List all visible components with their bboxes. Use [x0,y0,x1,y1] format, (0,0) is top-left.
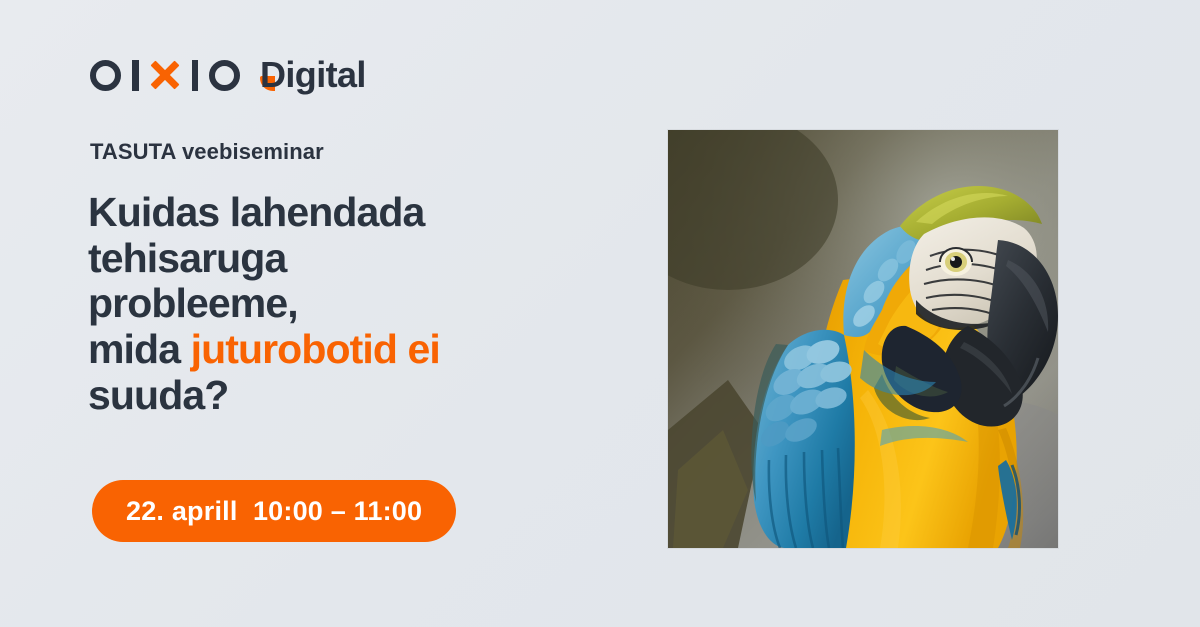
page-title: Kuidas lahendada tehisaruga probleeme, m… [88,190,648,419]
headline-line-1: Kuidas lahendada [88,189,424,235]
oixio-digital-logo: Digital [90,52,366,98]
logo-letter-o-right [209,60,240,91]
logo-letter-x-icon [150,60,181,91]
webinar-promo-banner: Digital TASUTA veebiseminar Kuidas lahen… [0,0,1200,627]
logo-wordmark: Digital [258,57,366,93]
oixio-logomark [90,54,240,96]
logo-wordmark-text: Digital [260,54,366,95]
eyebrow-label: TASUTA veebiseminar [90,139,324,165]
logo-letter-o-left [90,60,121,91]
headline-line-4-plain: mida [88,326,191,372]
parrot-illustration [668,130,1058,548]
headline-line-3: probleeme, [88,280,298,326]
headline-line-5: suuda? [88,372,228,418]
webinar-datetime-button[interactable]: 22. aprill 10:00 – 11:00 [92,480,456,542]
logo-letter-i-left [132,60,139,91]
headline-line-4-accent: juturobotid ei [191,326,440,372]
parrot-photo [668,130,1058,548]
parrot-eye [940,248,972,276]
logo-letter-i-right [192,60,199,91]
headline-line-2: tehisaruga [88,235,286,281]
